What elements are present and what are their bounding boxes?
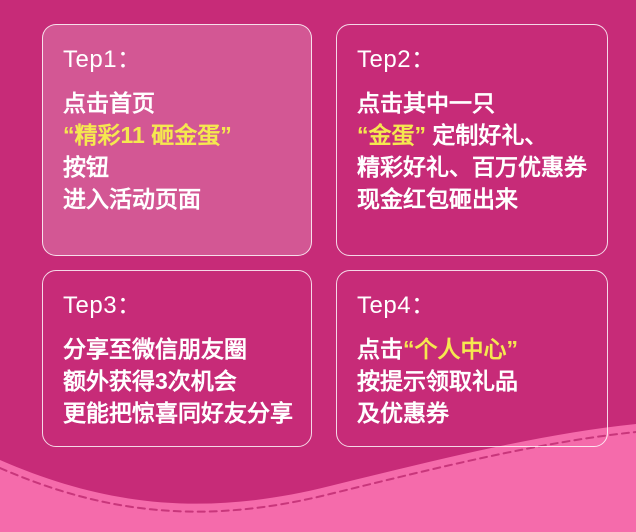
step-text-line: 现金红包砸出来 [357, 183, 607, 215]
step-text-line: 按钮 [63, 151, 311, 183]
step-3-lines: 分享至微信朋友圈额外获得3次机会更能把惊喜同好友分享 [63, 333, 311, 429]
step-text-line: 及优惠券 [357, 397, 607, 429]
highlighted-text: 砸金蛋” [151, 122, 232, 148]
step-text-line: 进入活动页面 [63, 183, 311, 215]
plain-text: 点击 [357, 336, 403, 362]
step-2-lines: 点击其中一只“金蛋” 定制好礼、精彩好礼、百万优惠券现金红包砸出来 [357, 87, 607, 215]
step-text-line: 精彩好礼、百万优惠券 [357, 151, 607, 183]
step-card-4: Tep4： 点击“个人中心”按提示领取礼品及优惠券 [336, 270, 608, 447]
step-card-1-content: Tep1： 点击首页“精彩11 砸金蛋”按钮进入活动页面 [43, 25, 311, 215]
step-4-lines: 点击“个人中心”按提示领取礼品及优惠券 [357, 333, 607, 429]
plain-text: 现金红包砸出来 [357, 186, 518, 212]
step-1-title: Tep1： [63, 45, 311, 75]
plain-text: 按钮 [63, 154, 109, 180]
plain-text: 点击其中一只 [357, 90, 495, 116]
step-text-line: 额外获得3次机会 [63, 365, 311, 397]
step-2-title: Tep2： [357, 45, 607, 75]
plain-text: 按提示领取礼品 [357, 368, 518, 394]
plain-text: 额外获得3次机会 [63, 368, 237, 394]
step-text-line: “精彩11 砸金蛋” [63, 119, 311, 151]
step-text-line: 点击“个人中心” [357, 333, 607, 365]
plain-text: 定制好礼、 [426, 122, 547, 148]
step-4-title: Tep4： [357, 291, 607, 321]
step-card-2: Tep2： 点击其中一只“金蛋” 定制好礼、精彩好礼、百万优惠券现金红包砸出来 [336, 24, 608, 256]
step-1-lines: 点击首页“精彩11 砸金蛋”按钮进入活动页面 [63, 87, 311, 215]
step-text-line: 按提示领取礼品 [357, 365, 607, 397]
step-card-3-content: Tep3： 分享至微信朋友圈额外获得3次机会更能把惊喜同好友分享 [43, 271, 311, 429]
step-text-line: 更能把惊喜同好友分享 [63, 397, 311, 429]
promo-steps-banner: Tep1： 点击首页“精彩11 砸金蛋”按钮进入活动页面 Tep2： 点击其中一… [0, 0, 636, 532]
step-card-3: Tep3： 分享至微信朋友圈额外获得3次机会更能把惊喜同好友分享 [42, 270, 312, 447]
plain-text: 更能把惊喜同好友分享 [63, 400, 293, 426]
step-text-line: 分享至微信朋友圈 [63, 333, 311, 365]
step-text-line: “金蛋” 定制好礼、 [357, 119, 607, 151]
plain-text: 点击首页 [63, 90, 155, 116]
step-3-title: Tep3： [63, 291, 311, 321]
plain-text: 及优惠券 [357, 400, 449, 426]
plain-text: 精彩好礼、百万优惠券 [357, 154, 587, 180]
step-text-line: 点击其中一只 [357, 87, 607, 119]
highlighted-text: “金蛋” [357, 122, 426, 148]
highlighted-text: “个人中心” [403, 336, 518, 362]
plain-text: 进入活动页面 [63, 186, 201, 212]
highlighted-text: “精彩11 [63, 122, 145, 148]
step-card-4-content: Tep4： 点击“个人中心”按提示领取礼品及优惠券 [337, 271, 607, 429]
plain-text: 分享至微信朋友圈 [63, 336, 247, 362]
step-card-2-content: Tep2： 点击其中一只“金蛋” 定制好礼、精彩好礼、百万优惠券现金红包砸出来 [337, 25, 607, 215]
step-text-line: 点击首页 [63, 87, 311, 119]
step-card-1: Tep1： 点击首页“精彩11 砸金蛋”按钮进入活动页面 [42, 24, 312, 256]
